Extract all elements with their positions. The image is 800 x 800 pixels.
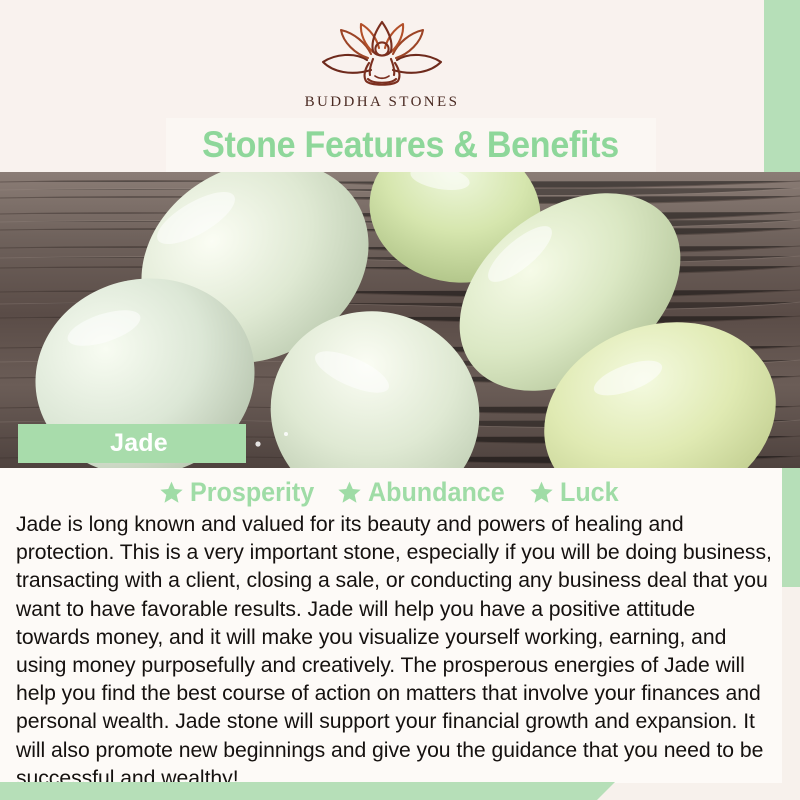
- stone-name: Jade: [18, 429, 246, 458]
- benefit-item: Prosperity: [159, 477, 324, 508]
- benefit-item: Luck: [529, 477, 623, 508]
- benefit-label: Abundance: [368, 477, 505, 508]
- deco-right-top-strip: [764, 0, 800, 175]
- star-icon: [529, 480, 554, 505]
- benefit-label: Luck: [560, 477, 619, 508]
- brand-name: BUDDHA STONES: [0, 94, 764, 111]
- brand-logo: BUDDHA STONES: [0, 18, 764, 111]
- benefits-row: Prosperity Abundance Luck: [0, 477, 782, 508]
- stone-name-band: Jade: [18, 424, 246, 463]
- lotus-meditation-icon: [311, 18, 453, 90]
- benefit-label: Prosperity: [190, 477, 314, 508]
- benefit-item: Abundance: [337, 477, 515, 508]
- stone-description: Jade is long known and valued for its be…: [16, 510, 774, 792]
- deco-bottom-band: [0, 782, 615, 800]
- page-title-band: Stone Features & Benefits: [166, 118, 656, 172]
- star-icon: [337, 480, 362, 505]
- star-icon: [159, 480, 184, 505]
- poster-root: BUDDHA STONES Stone Features & Benefits: [0, 0, 800, 800]
- page-title: Stone Features & Benefits: [203, 124, 620, 166]
